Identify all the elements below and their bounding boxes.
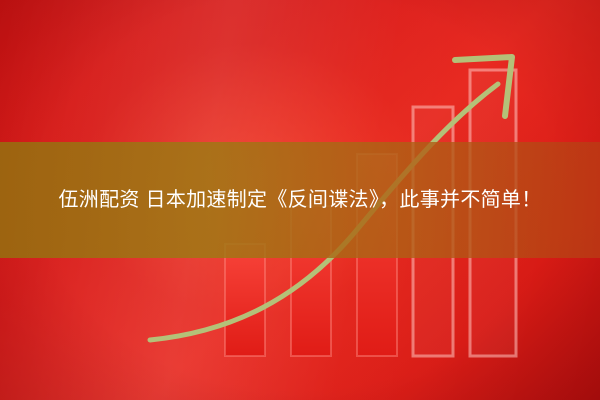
image-canvas: 伍洲配资 日本加速制定《反间谍法》，此事并不简单！ (0, 0, 600, 400)
headline-text: 伍洲配资 日本加速制定《反间谍法》，此事并不简单！ (20, 184, 580, 217)
bar-1 (225, 244, 265, 356)
headline-band: 伍洲配资 日本加速制定《反间谍法》，此事并不简单！ (0, 142, 600, 258)
